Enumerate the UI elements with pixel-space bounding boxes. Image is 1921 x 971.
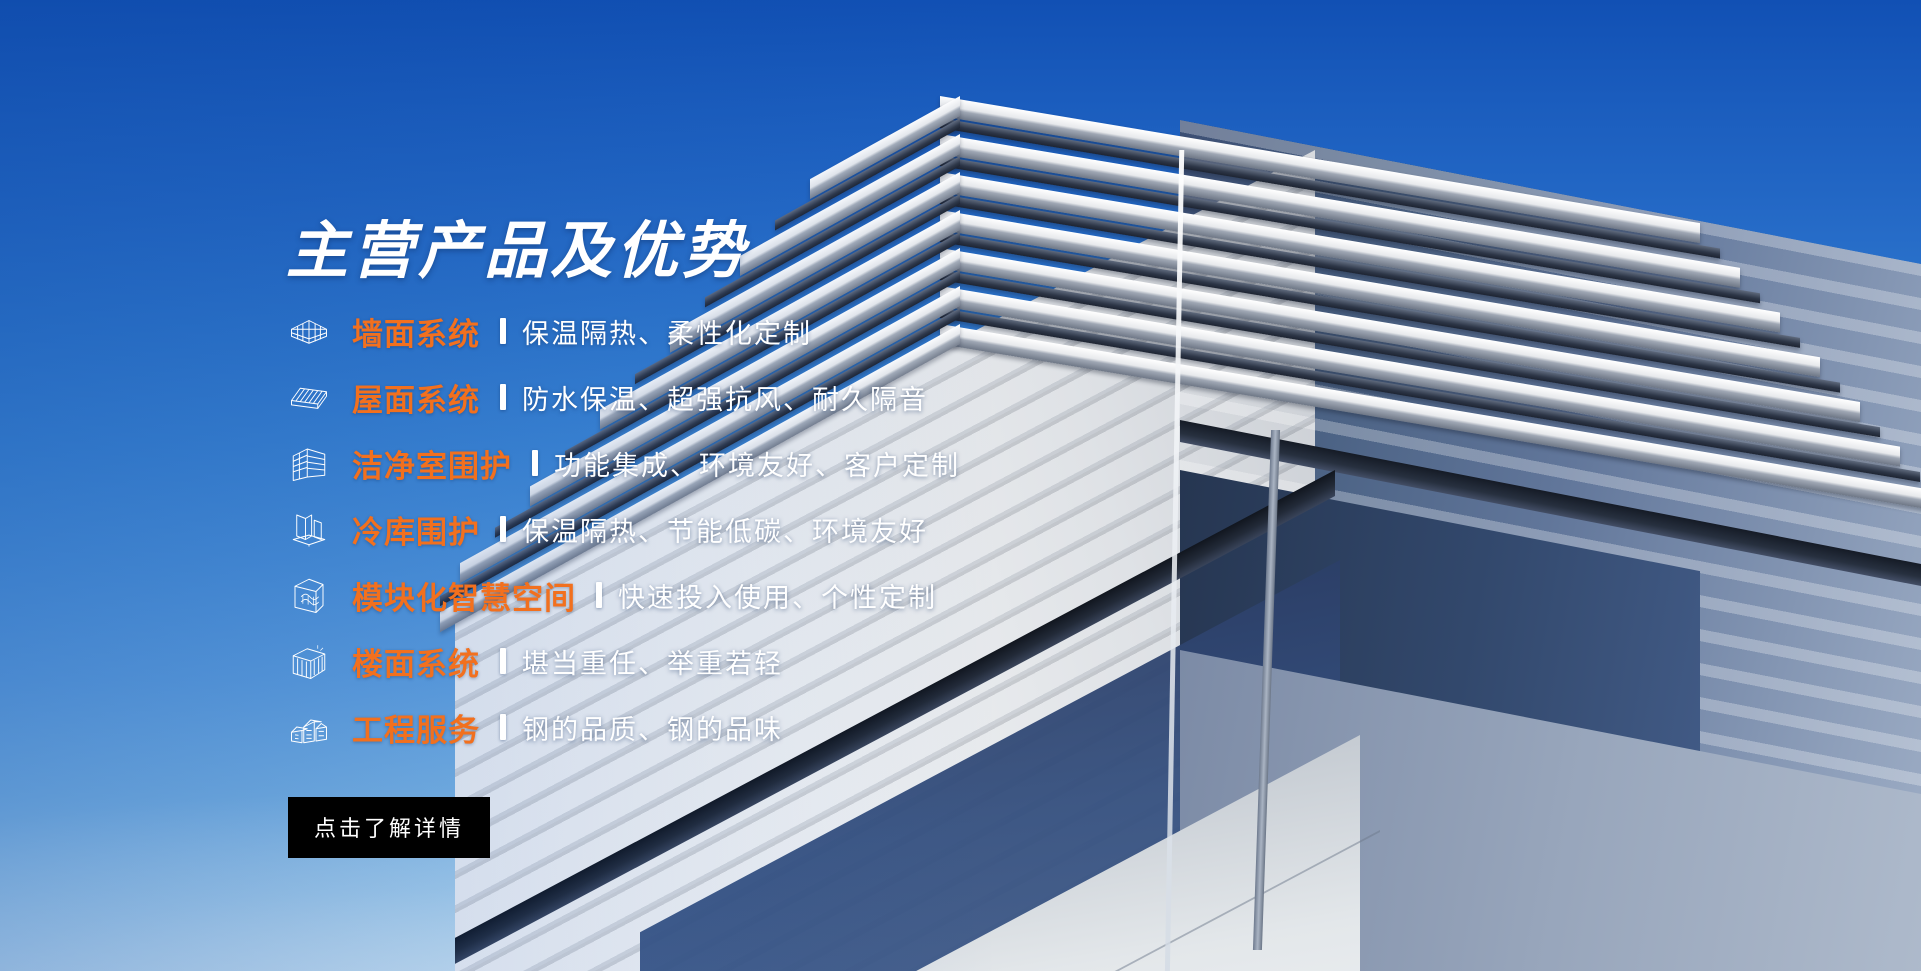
learn-more-button[interactable]: 点击了解详情	[288, 797, 490, 858]
roof-system-icon	[286, 374, 332, 420]
feature-name: 屋面系统	[352, 375, 480, 420]
feature-description: 功能集成、环境友好、客户定制	[554, 444, 960, 483]
feature-row-wall-system[interactable]: 墙面系统 保温隔热、柔性化定制	[286, 298, 1106, 364]
feature-description: 堪当重任、举重若轻	[522, 642, 783, 681]
feature-name: 模块化智慧空间	[352, 573, 576, 618]
modular-space-icon	[286, 572, 332, 618]
banner-content: 主营产品及优势 墙面系统 保温隔热、柔性化定制	[0, 0, 1100, 971]
cold-storage-icon	[286, 506, 332, 552]
feature-name: 洁净室围护	[352, 441, 512, 486]
feature-row-floor-system[interactable]: 楼面系统 堪当重任、举重若轻	[286, 628, 1106, 694]
feature-row-cleanroom[interactable]: 洁净室围护 功能集成、环境友好、客户定制	[286, 430, 1106, 496]
feature-separator	[532, 450, 538, 476]
feature-name: 楼面系统	[352, 639, 480, 684]
feature-separator	[500, 714, 506, 740]
product-feature-list: 墙面系统 保温隔热、柔性化定制 屋面系统 防水保温、超强抗风、耐久隔音	[286, 298, 1106, 760]
floor-system-icon	[286, 638, 332, 684]
wall-system-icon	[286, 308, 332, 354]
feature-description: 保温隔热、节能低碳、环境友好	[522, 510, 928, 549]
feature-row-modular-space[interactable]: 模块化智慧空间 快速投入使用、个性定制	[286, 562, 1106, 628]
feature-name: 冷库围护	[352, 507, 480, 552]
engineering-service-icon	[286, 704, 332, 750]
feature-description: 保温隔热、柔性化定制	[522, 312, 812, 351]
feature-description: 快速投入使用、个性定制	[618, 576, 937, 615]
cleanroom-icon	[286, 440, 332, 486]
feature-name: 工程服务	[352, 705, 480, 750]
page-title: 主营产品及优势	[286, 200, 748, 290]
feature-row-cold-storage[interactable]: 冷库围护 保温隔热、节能低碳、环境友好	[286, 496, 1106, 562]
feature-name: 墙面系统	[352, 309, 480, 354]
feature-row-engineering-service[interactable]: 工程服务 钢的品质、钢的品味	[286, 694, 1106, 760]
feature-description: 防水保温、超强抗风、耐久隔音	[522, 378, 928, 417]
hero-banner: 主营产品及优势 墙面系统 保温隔热、柔性化定制	[0, 0, 1921, 971]
feature-description: 钢的品质、钢的品味	[522, 708, 783, 747]
feature-separator	[500, 318, 506, 344]
feature-separator	[500, 384, 506, 410]
feature-separator	[500, 648, 506, 674]
feature-separator	[500, 516, 506, 542]
feature-separator	[596, 582, 602, 608]
feature-row-roof-system[interactable]: 屋面系统 防水保温、超强抗风、耐久隔音	[286, 364, 1106, 430]
